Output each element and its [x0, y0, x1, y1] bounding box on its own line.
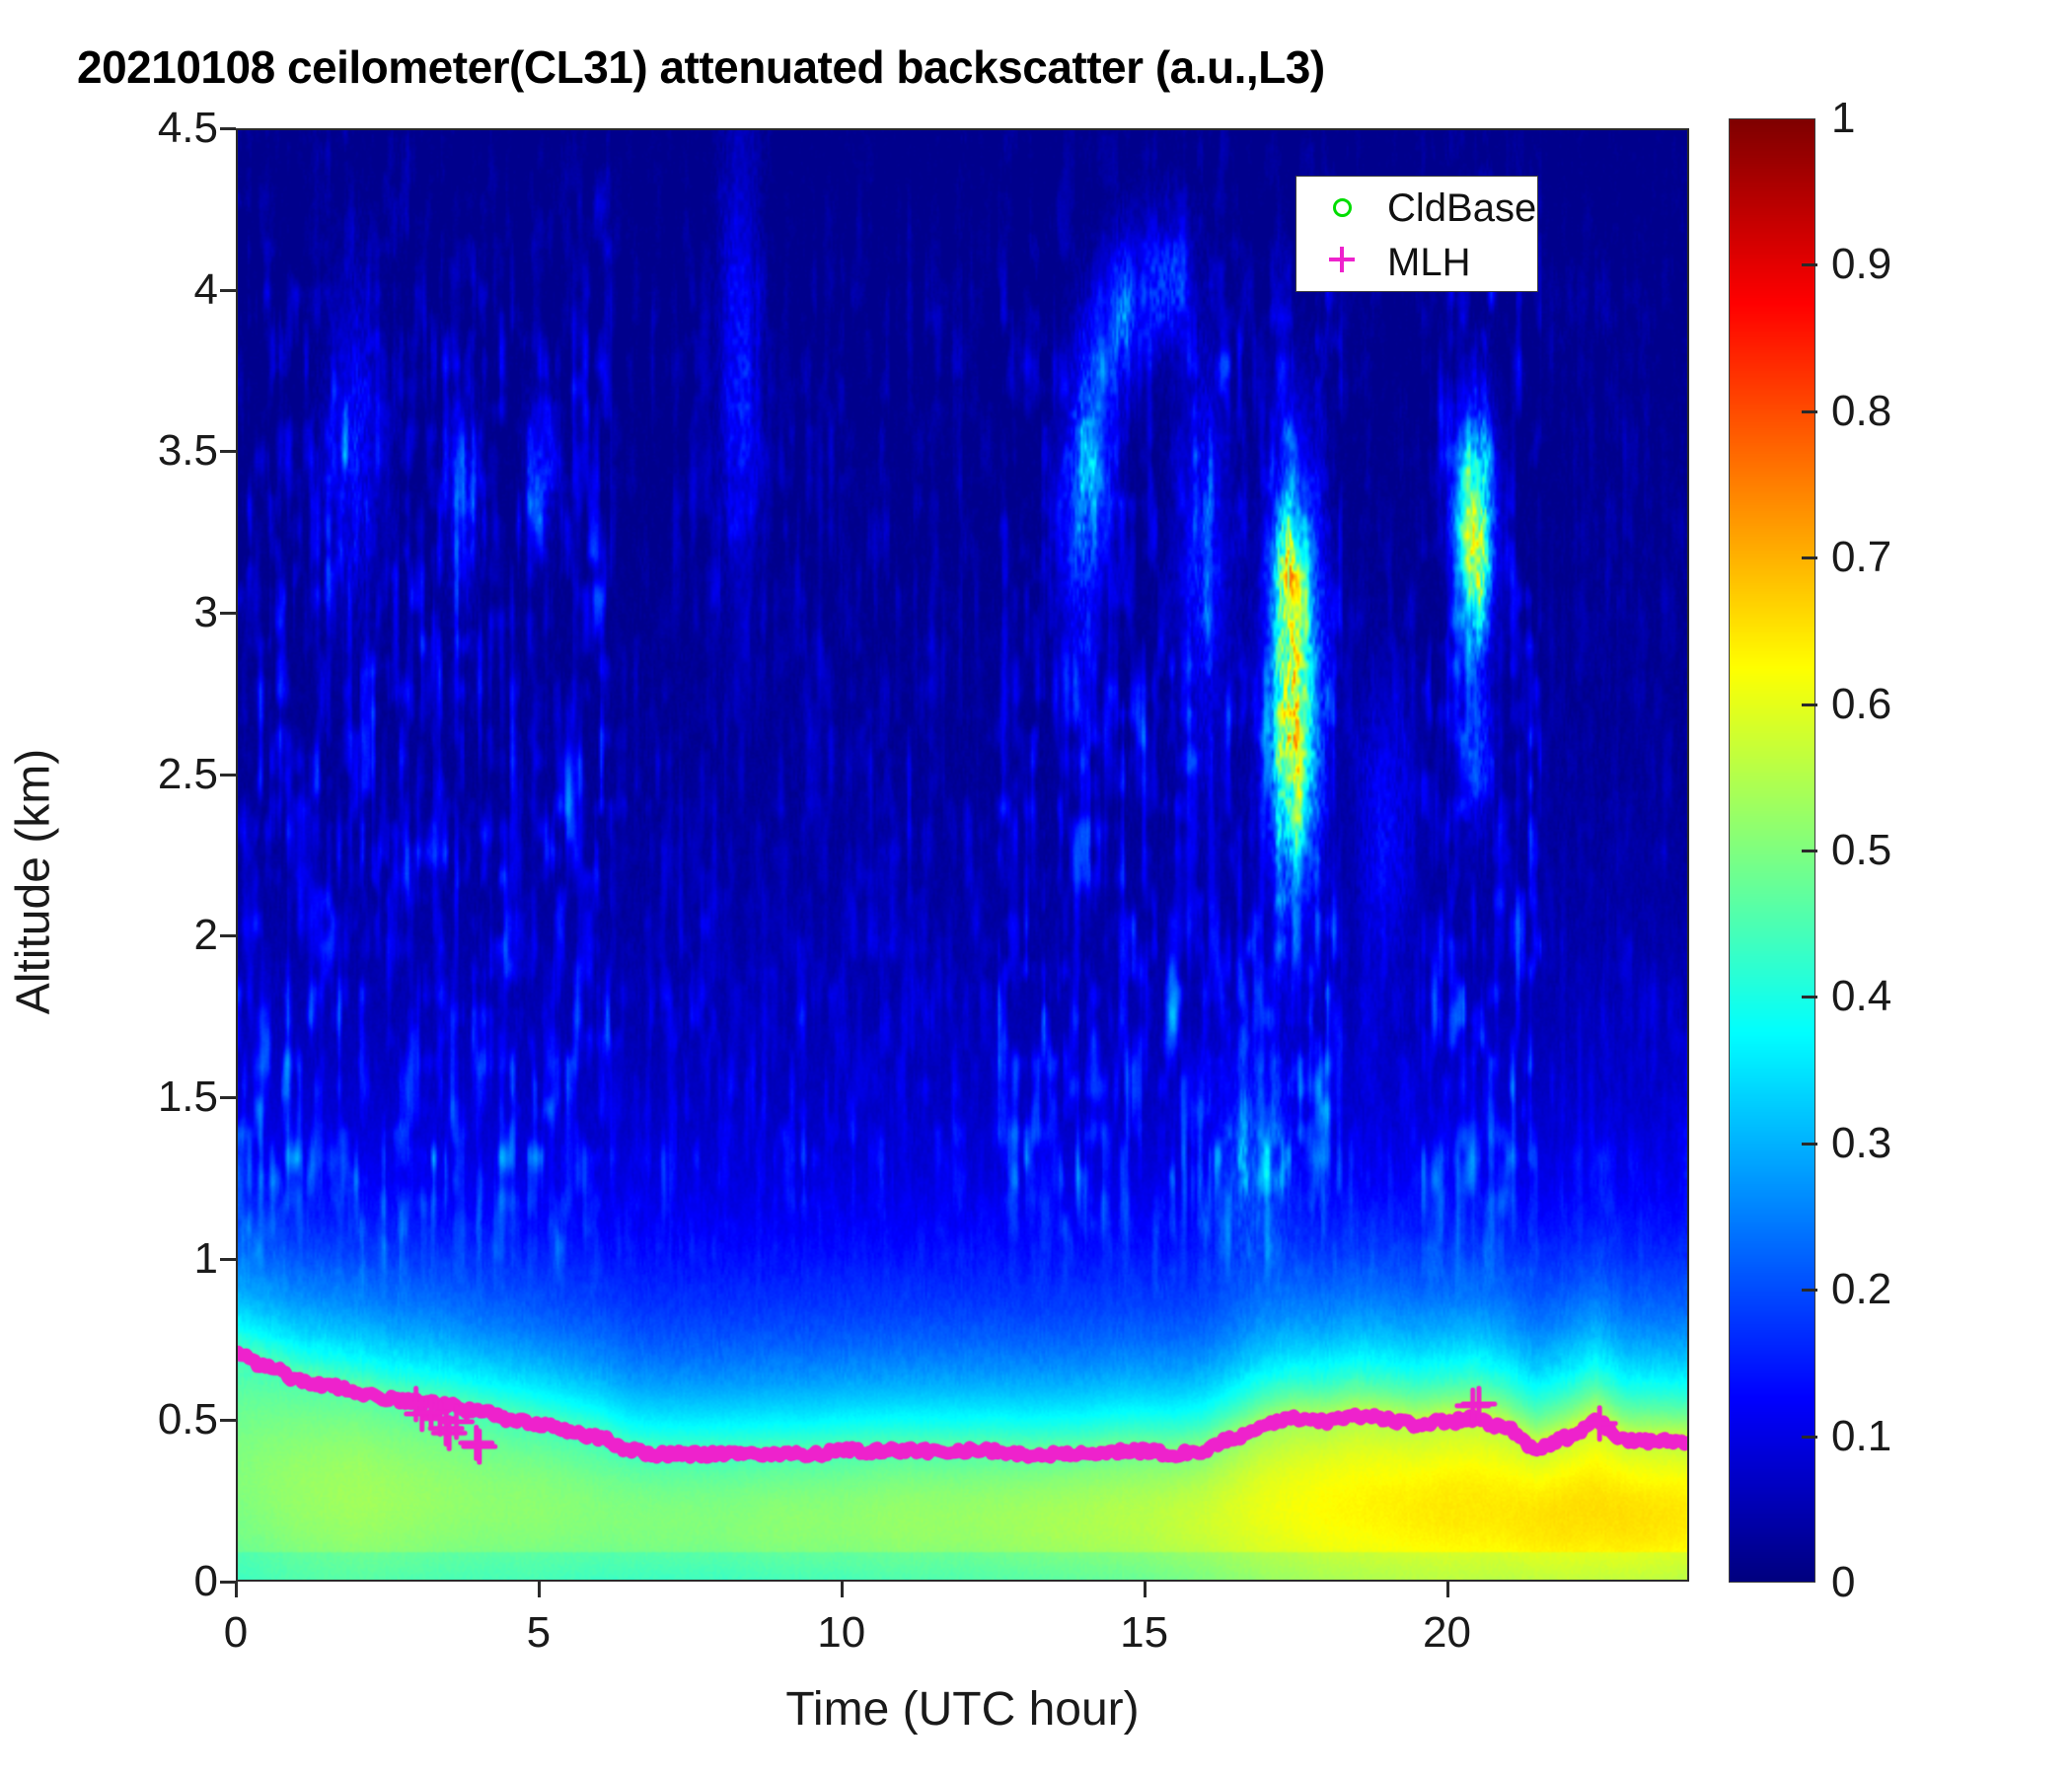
legend-label-cldbase: CldBase — [1387, 188, 1536, 228]
colorbar-tick-mark — [1802, 1436, 1817, 1439]
colorbar-tick-label: 0.4 — [1831, 972, 1891, 1021]
legend: CldBase MLH — [1295, 176, 1538, 292]
x-tick-label: 20 — [1423, 1608, 1471, 1658]
x-tick-label: 5 — [527, 1608, 551, 1658]
plot-axes — [236, 128, 1689, 1582]
colorbar-tick-label: 0.3 — [1831, 1119, 1891, 1168]
colorbar-tick-mark — [1802, 850, 1817, 852]
colorbar-tick-label: 0.1 — [1831, 1412, 1891, 1461]
backscatter-heatmap — [238, 130, 1687, 1580]
x-tick-label: 15 — [1120, 1608, 1168, 1658]
colorbar-tick-mark — [1802, 1143, 1817, 1146]
y-tick-label: 3 — [194, 588, 218, 637]
y-tick-label: 0 — [194, 1557, 218, 1606]
mlh-trace-overlay — [238, 130, 1687, 1580]
colorbar-tick-mark — [1802, 263, 1817, 266]
x-tick-mark — [841, 1582, 844, 1597]
y-tick-label: 2.5 — [158, 750, 218, 799]
y-tick-label: 0.5 — [158, 1395, 218, 1444]
y-tick-mark — [220, 1581, 236, 1584]
y-axis-label: Altitude (km) — [7, 655, 61, 1109]
colorbar-tick-label: 0.2 — [1831, 1265, 1891, 1314]
y-tick-mark — [220, 450, 236, 453]
y-tick-mark — [220, 934, 236, 937]
colorbar-tick-mark — [1802, 996, 1817, 999]
colorbar-tick-label: 0.5 — [1831, 826, 1891, 875]
y-tick-label: 2 — [194, 911, 218, 960]
colorbar-tick-label: 0.7 — [1831, 533, 1891, 582]
legend-item-cldbase[interactable]: CldBase — [1296, 181, 1537, 235]
y-tick-mark — [220, 774, 236, 777]
y-tick-mark — [220, 1419, 236, 1422]
colorbar-tick-label: 1 — [1831, 94, 1855, 143]
x-tick-mark — [235, 1582, 238, 1597]
y-tick-mark — [220, 1258, 236, 1261]
colorbar-tick-mark — [1802, 1289, 1817, 1292]
colorbar-tick-mark — [1802, 556, 1817, 559]
colorbar-tick-label: 0.6 — [1831, 680, 1891, 729]
y-tick-mark — [220, 612, 236, 615]
x-tick-mark — [1144, 1582, 1147, 1597]
y-tick-mark — [220, 289, 236, 292]
circle-marker-icon — [1296, 193, 1387, 223]
legend-label-mlh: MLH — [1387, 243, 1470, 282]
chart-title: 20210108 ceilometer(CL31) attenuated bac… — [77, 37, 1656, 97]
ceilometer-backscatter-figure: 20210108 ceilometer(CL31) attenuated bac… — [0, 0, 2072, 1776]
y-tick-label: 4.5 — [158, 104, 218, 153]
x-tick-label: 10 — [817, 1608, 865, 1658]
colorbar-tick-label: 0.8 — [1831, 387, 1891, 436]
y-tick-label: 3.5 — [158, 426, 218, 476]
x-tick-mark — [538, 1582, 541, 1597]
colorbar-tick-label: 0.9 — [1831, 240, 1891, 289]
colorbar-tick-label: 0 — [1831, 1558, 1855, 1607]
y-tick-label: 4 — [194, 265, 218, 315]
x-tick-mark — [1446, 1582, 1449, 1597]
x-tick-label: 0 — [224, 1608, 248, 1658]
colorbar-tick-mark — [1802, 703, 1817, 706]
colorbar-tick-mark — [1802, 410, 1817, 413]
y-tick-label: 1.5 — [158, 1073, 218, 1122]
legend-item-mlh[interactable]: MLH — [1296, 235, 1537, 289]
y-tick-label: 1 — [194, 1234, 218, 1284]
x-axis-label: Time (UTC hour) — [236, 1682, 1689, 1737]
plus-marker-icon — [1296, 247, 1387, 278]
y-tick-mark — [220, 127, 236, 130]
y-tick-mark — [220, 1096, 236, 1099]
